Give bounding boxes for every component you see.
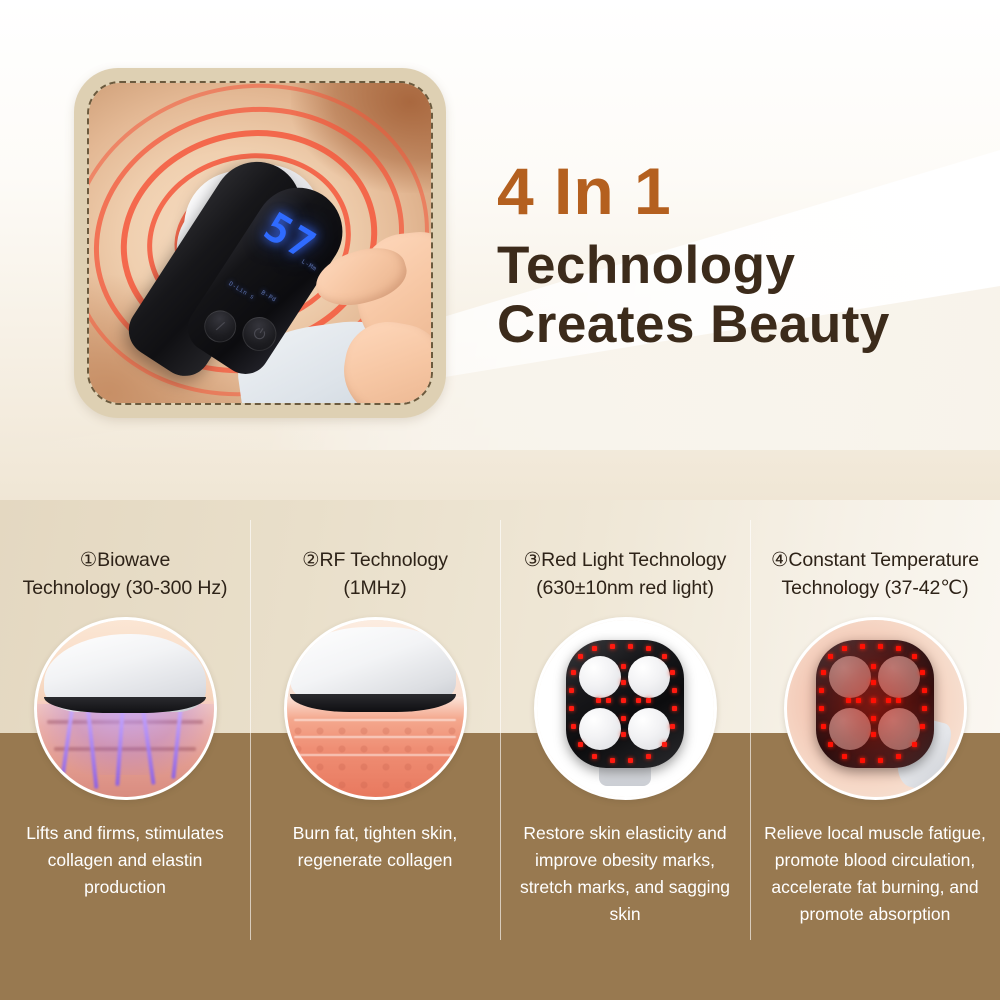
red-led [578,742,583,747]
hero-product-photo: 57 D-Lin s B-Pd L-Mm / ⏻ [89,83,431,403]
red-led [922,706,927,711]
device-display-value: 57 [256,204,324,270]
feature-caption: Burn fat, tighten skin, regenerate colla… [263,820,488,874]
red-led-center [621,664,626,669]
red-led [610,644,615,649]
red-led [828,742,833,747]
red-led [821,670,826,675]
headline-line-1: Technology [497,236,967,295]
headline-block: 4 In 1 Technology Creates Beauty [497,158,967,355]
red-led [920,724,925,729]
red-led [592,754,597,759]
red-led [842,754,847,759]
red-led-center [856,698,861,703]
red-led [662,742,667,747]
red-led [610,758,615,763]
feature-caption: Relieve local muscle fatigue, promote bl… [763,820,988,929]
red-led-center [596,698,601,703]
massage-pad [628,656,670,698]
headline-eyebrow: 4 In 1 [497,158,967,224]
feature-column-rf: ②RF Technology(1MHz) Burn fat, tighten s… [250,520,500,960]
red-led-center [606,698,611,703]
massage-pad [579,656,621,698]
red-led [860,644,865,649]
product-feature-poster: 57 D-Lin s B-Pd L-Mm / ⏻ 4 In 1 Technolo… [0,0,1000,1000]
hero-image-frame: 57 D-Lin s B-Pd L-Mm / ⏻ [74,68,446,418]
red-led [878,758,883,763]
red-led-center [886,698,891,703]
red-led-center [636,698,641,703]
device-label-1: D-Lin s [227,280,255,301]
red-led [896,646,901,651]
red-led [828,654,833,659]
feature-column-red-light: ③Red Light Technology(630±10nm red light… [500,520,750,960]
headline-line-2: Creates Beauty [497,295,967,354]
red-led-center [896,698,901,703]
red-led [578,654,583,659]
device-label-3: L-Mm [300,258,318,272]
massage-pad [579,708,621,750]
red-led [662,654,667,659]
red-led-center [871,716,876,721]
red-led [569,706,574,711]
red-led-center [621,680,626,685]
red-led [922,688,927,693]
red-led [569,688,574,693]
red-led-center [621,732,626,737]
rf-heat-skin-illustration [284,617,467,800]
red-led [912,654,917,659]
red-led [670,724,675,729]
red-led [571,724,576,729]
red-led [896,754,901,759]
device-label-2: B-Pd [260,289,278,303]
red-led [842,646,847,651]
red-led [628,758,633,763]
biowave-skin-illustration [34,617,217,800]
feature-columns: ①BiowaveTechnology (30-300 Hz) Lifts and… [0,520,1000,960]
heat-line-3 [294,754,457,756]
red-led [819,706,824,711]
red-led [646,646,651,651]
red-led-center [871,664,876,669]
massage-pad [878,656,920,698]
fat-cell-texture [287,722,464,796]
massage-pad [829,708,871,750]
feature-column-constant-temperature: ④Constant TemperatureTechnology (37-42℃) [750,520,1000,960]
feature-caption: Restore skin elasticity and improve obes… [513,820,738,929]
hero-dashed-border: 57 D-Lin s B-Pd L-Mm / ⏻ [87,81,433,405]
feature-title: ①BiowaveTechnology (30-300 Hz) [6,546,244,603]
red-led-center [846,698,851,703]
mode-button-icon[interactable]: / [198,304,242,348]
red-led [819,688,824,693]
feature-title: ③Red Light Technology(630±10nm red light… [506,546,744,603]
device-head-side-view [290,627,456,705]
heat-line-1 [294,719,457,721]
red-led [670,670,675,675]
red-led [628,644,633,649]
red-led [571,670,576,675]
red-led [672,688,677,693]
red-led [912,742,917,747]
feature-caption: Lifts and firms, stimulates collagen and… [13,820,238,901]
red-led [878,644,883,649]
constant-temperature-head-illustration [784,617,967,800]
red-led-center [621,716,626,721]
red-led [646,754,651,759]
red-led [592,646,597,651]
massage-pad [829,656,871,698]
red-led [860,758,865,763]
red-led-center [646,698,651,703]
headline-main: Technology Creates Beauty [497,236,967,355]
feature-column-biowave: ①BiowaveTechnology (30-300 Hz) Lifts and… [0,520,250,960]
red-led-center [871,680,876,685]
feature-title: ②RF Technology(1MHz) [256,546,494,603]
device-head-front-view [816,640,934,768]
device-head-front-view [566,640,684,768]
red-led-center [871,698,876,703]
red-led-center [621,698,626,703]
red-led [821,724,826,729]
red-led [920,670,925,675]
red-led [672,706,677,711]
red-led-center [871,732,876,737]
red-light-head-illustration [534,617,717,800]
feature-title: ④Constant TemperatureTechnology (37-42℃) [756,546,994,603]
